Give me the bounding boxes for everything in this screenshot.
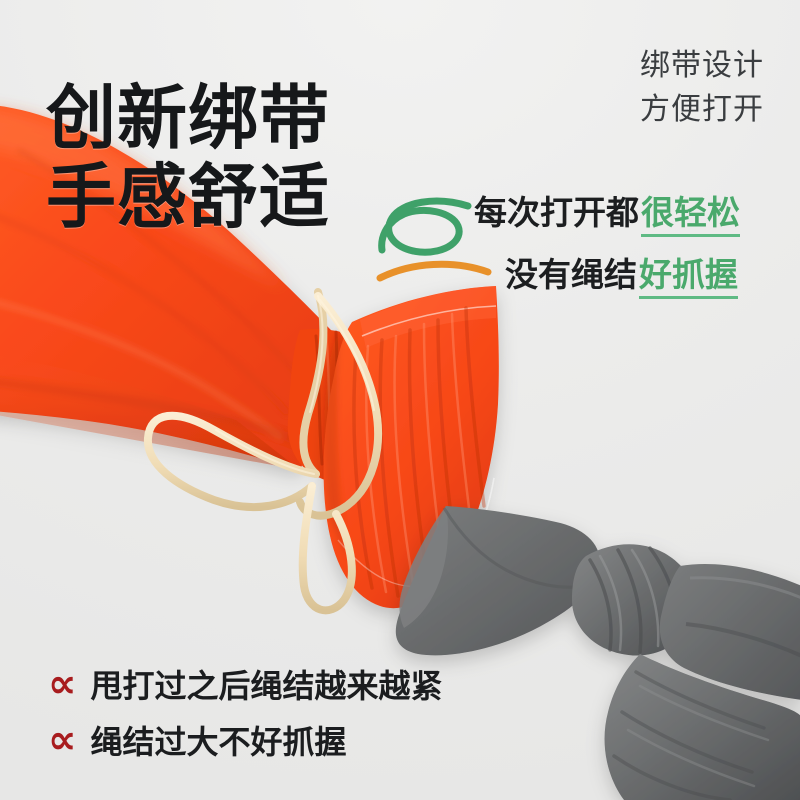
gray-knotted-fabric	[396, 506, 800, 800]
cross-mark-icon: ∝	[48, 664, 76, 704]
list-item-label: 绳结过大不好抓握	[90, 726, 346, 758]
callout-easy-open-highlight: 很轻松	[641, 194, 740, 237]
callout-no-knot-highlight: 好抓握	[639, 256, 738, 299]
callout-no-knot-prefix: 没有绳结	[505, 256, 637, 293]
headline-line-2: 手感舒适	[46, 162, 330, 233]
drawback-list: ∝ 甩打过之后绳结越来越紧 ∝ 绳结过大不好抓握	[48, 666, 443, 762]
subheading-line-1: 绑带设计	[640, 44, 764, 88]
orange-arc-decoration	[380, 264, 488, 278]
drawstring-cord	[148, 292, 378, 610]
orange-fabric-fan	[324, 286, 499, 608]
poster-canvas: 创新绑带 手感舒适 绑带设计 方便打开 每次打开都很轻松 没有绳结好抓握 ∝ 甩…	[0, 0, 800, 800]
drawstring-cord-highlight	[216, 296, 374, 474]
list-item: ∝ 绳结过大不好抓握	[48, 722, 443, 762]
callout-easy-open-prefix: 每次打开都	[474, 194, 639, 231]
page-title: 创新绑带 手感舒适	[46, 83, 330, 234]
list-item-label: 甩打过之后绳结越来越紧	[90, 670, 442, 702]
subheading: 绑带设计 方便打开	[640, 44, 764, 131]
cross-mark-icon: ∝	[48, 720, 76, 760]
callout-no-knot: 没有绳结好抓握	[505, 258, 738, 291]
list-item: ∝ 甩打过之后绳结越来越紧	[48, 666, 443, 706]
green-loop-decoration	[382, 201, 468, 252]
orange-fabric-gather	[288, 329, 421, 484]
headline-line-1: 创新绑带	[46, 79, 330, 157]
callout-easy-open: 每次打开都很轻松	[474, 196, 740, 229]
subheading-line-2: 方便打开	[640, 88, 764, 132]
